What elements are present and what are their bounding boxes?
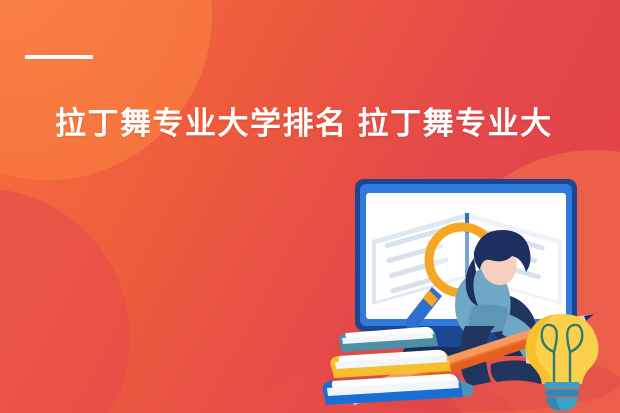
- study-research-illustration: [322, 166, 620, 413]
- banner-title: 拉丁舞专业大学排名 拉丁舞专业大: [55, 104, 620, 144]
- title-accent-rule: [25, 55, 93, 59]
- promo-banner: 拉丁舞专业大学排名 拉丁舞专业大: [0, 0, 620, 413]
